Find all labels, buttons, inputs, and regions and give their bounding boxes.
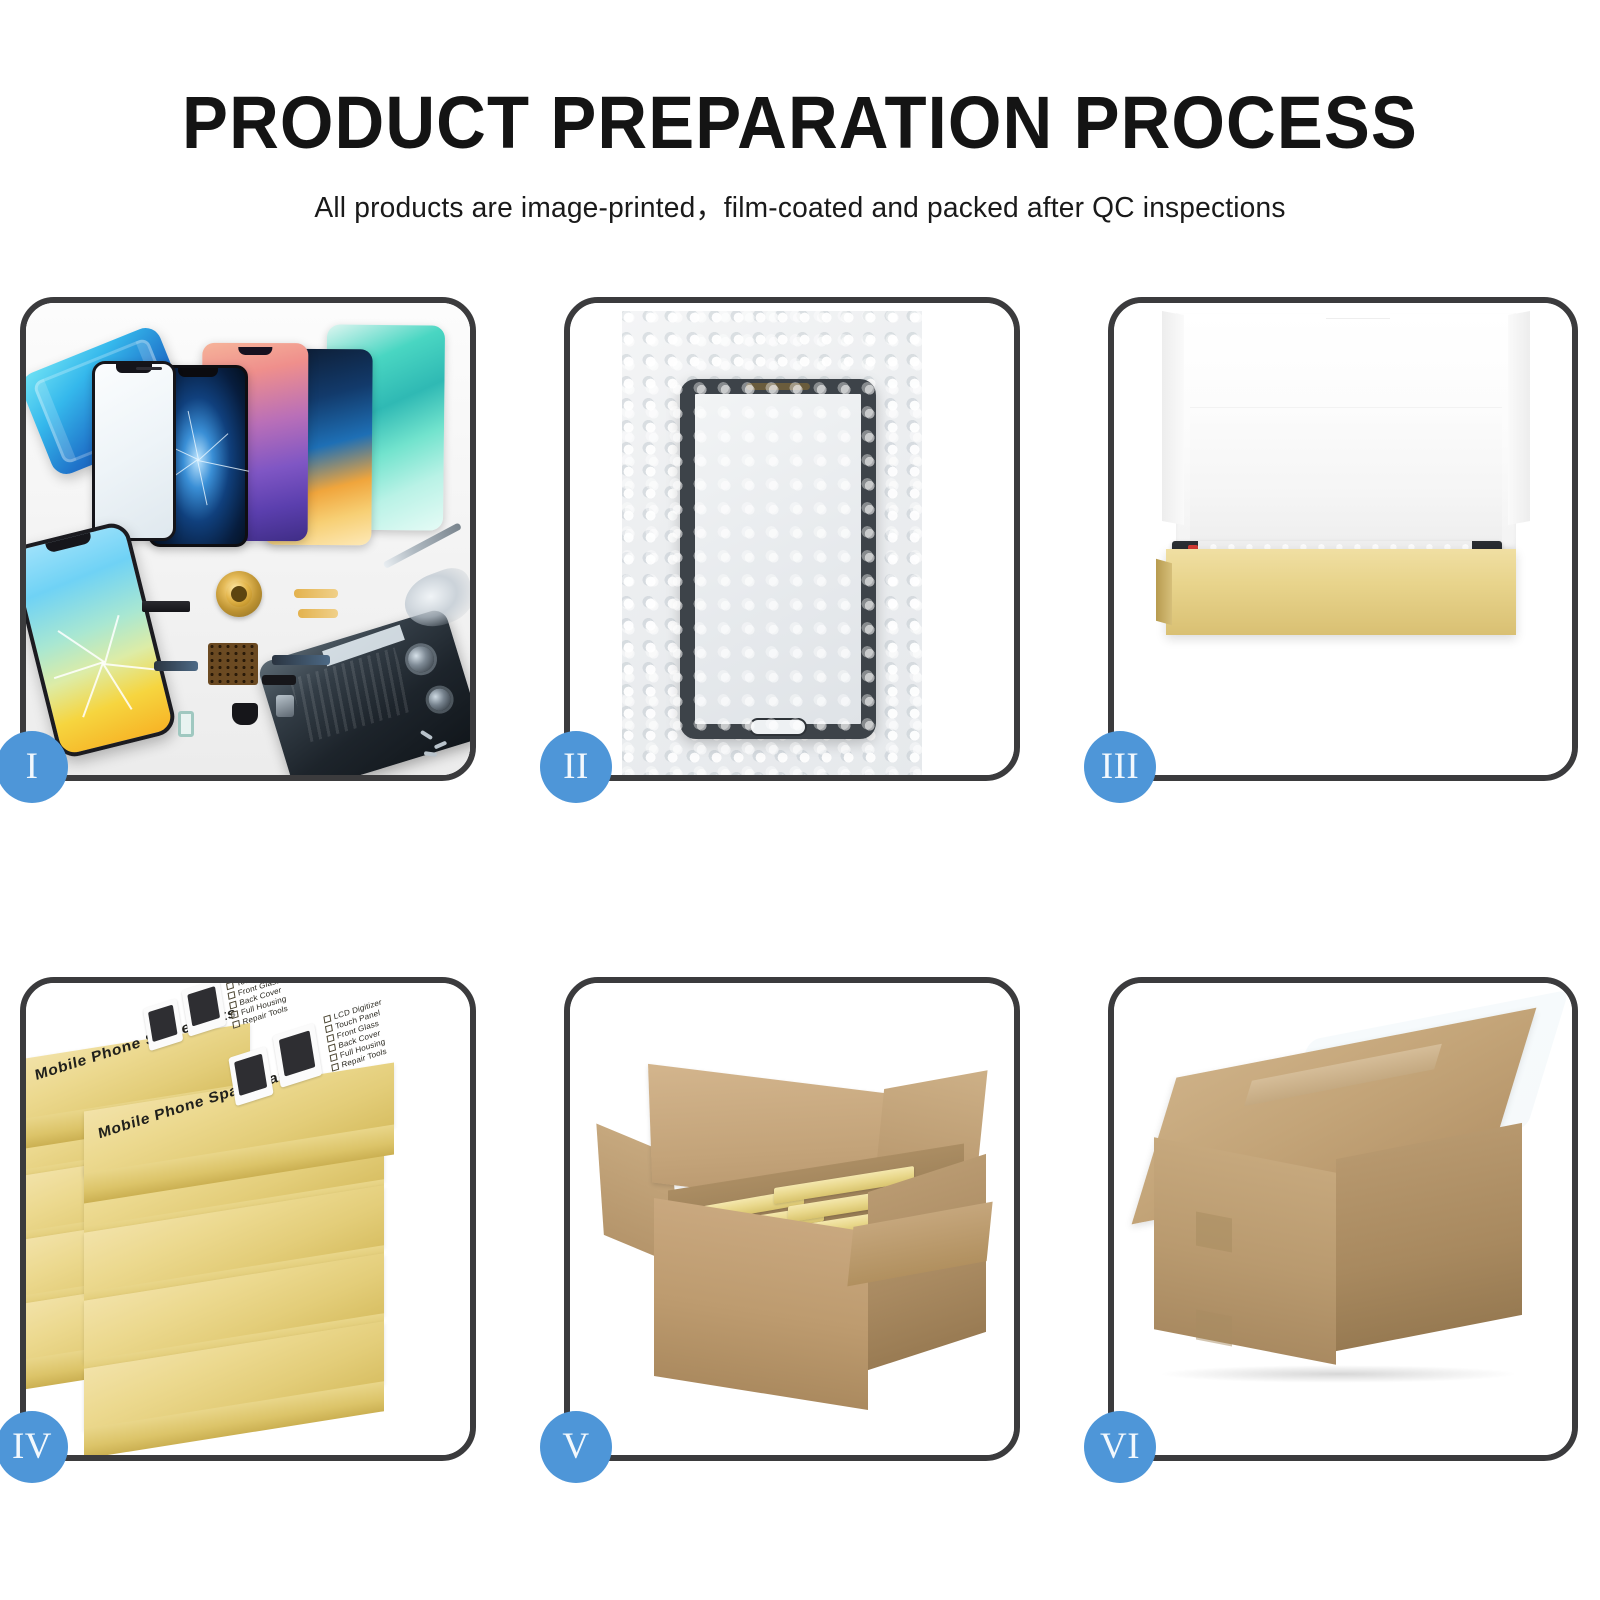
step-5-image — [570, 983, 1014, 1455]
wrapped-screen — [680, 379, 876, 739]
step-numeral-5: V — [562, 1428, 589, 1467]
retail-box-front-4 — [84, 1345, 384, 1407]
step-badge-4: IV — [0, 1411, 68, 1483]
earpiece-module — [232, 703, 258, 725]
step-card-5: V — [564, 977, 1020, 1461]
step-3-image — [1114, 303, 1572, 775]
step-numeral-4: IV — [12, 1428, 52, 1467]
flex-cable-gold-2 — [298, 609, 338, 618]
step-numeral-2: II — [563, 748, 589, 787]
flex-cable-dark-2 — [154, 661, 198, 671]
step-card-3: III — [1108, 297, 1578, 781]
step-numeral-6: VI — [1100, 1428, 1140, 1467]
open-mailer-box-scene — [1114, 303, 1572, 775]
step-6-image — [1114, 983, 1572, 1455]
step-4-image: Mobile Phone Spare Parts LCD Digitizer T… — [26, 983, 470, 1455]
retail-box-checklist-upper: LCD Digitizer Touch Panel Front Glass Ba… — [224, 983, 291, 1031]
step-badge-3: III — [1084, 731, 1156, 803]
front-glass-panel — [92, 361, 176, 541]
camera-module — [276, 695, 294, 717]
parts-layout-scene: 08:08 — [26, 303, 470, 775]
sealed-carton-scene — [1114, 983, 1572, 1455]
step-numeral-3: III — [1101, 748, 1139, 787]
speaker-module — [142, 601, 190, 612]
step-badge-5: V — [540, 1411, 612, 1483]
bubble-wrapped-screen-scene — [570, 303, 1014, 775]
wireless-charging-coil — [216, 571, 262, 617]
step-card-1: 08:08 — [20, 297, 476, 781]
step-2-image — [570, 303, 1014, 775]
step-numeral-1: I — [26, 748, 39, 787]
process-step-grid: 08:08 — [0, 0, 1600, 1600]
carton-tab-lower — [1196, 1310, 1232, 1347]
open-shipping-carton — [606, 1063, 982, 1393]
carton-side-face — [1336, 1123, 1522, 1351]
step-card-2: II — [564, 297, 1020, 781]
step-card-4: Mobile Phone Spare Parts LCD Digitizer T… — [20, 977, 476, 1461]
flex-cable-dark — [272, 655, 330, 665]
open-carton-scene — [570, 983, 1014, 1455]
vibrator-motor — [262, 675, 296, 685]
sealed-shipping-carton — [1138, 1047, 1538, 1377]
infographic-page: PRODUCT PREPARATION PROCESS All products… — [0, 0, 1600, 1600]
retail-box-checklist-lower: LCD Digitizer Touch Panel Front Glass Ba… — [323, 998, 390, 1074]
sim-tray — [178, 711, 194, 737]
step-card-6: VI — [1108, 977, 1578, 1461]
step-badge-1: I — [0, 731, 68, 803]
carton-shadow — [1158, 1365, 1518, 1383]
step-badge-6: VI — [1084, 1411, 1156, 1483]
mailer-box-tray — [1166, 549, 1516, 635]
foam-insert — [1190, 407, 1502, 553]
carton-tab-upper — [1196, 1212, 1232, 1253]
step-badge-2: II — [540, 731, 612, 803]
flex-cable-gold-1 — [294, 589, 338, 598]
carton-front-face — [1154, 1137, 1336, 1364]
step-1-image: 08:08 — [26, 303, 470, 775]
stacked-gold-boxes-scene: Mobile Phone Spare Parts LCD Digitizer T… — [26, 983, 470, 1455]
ic-chip — [208, 643, 258, 685]
screws-group — [420, 733, 460, 759]
